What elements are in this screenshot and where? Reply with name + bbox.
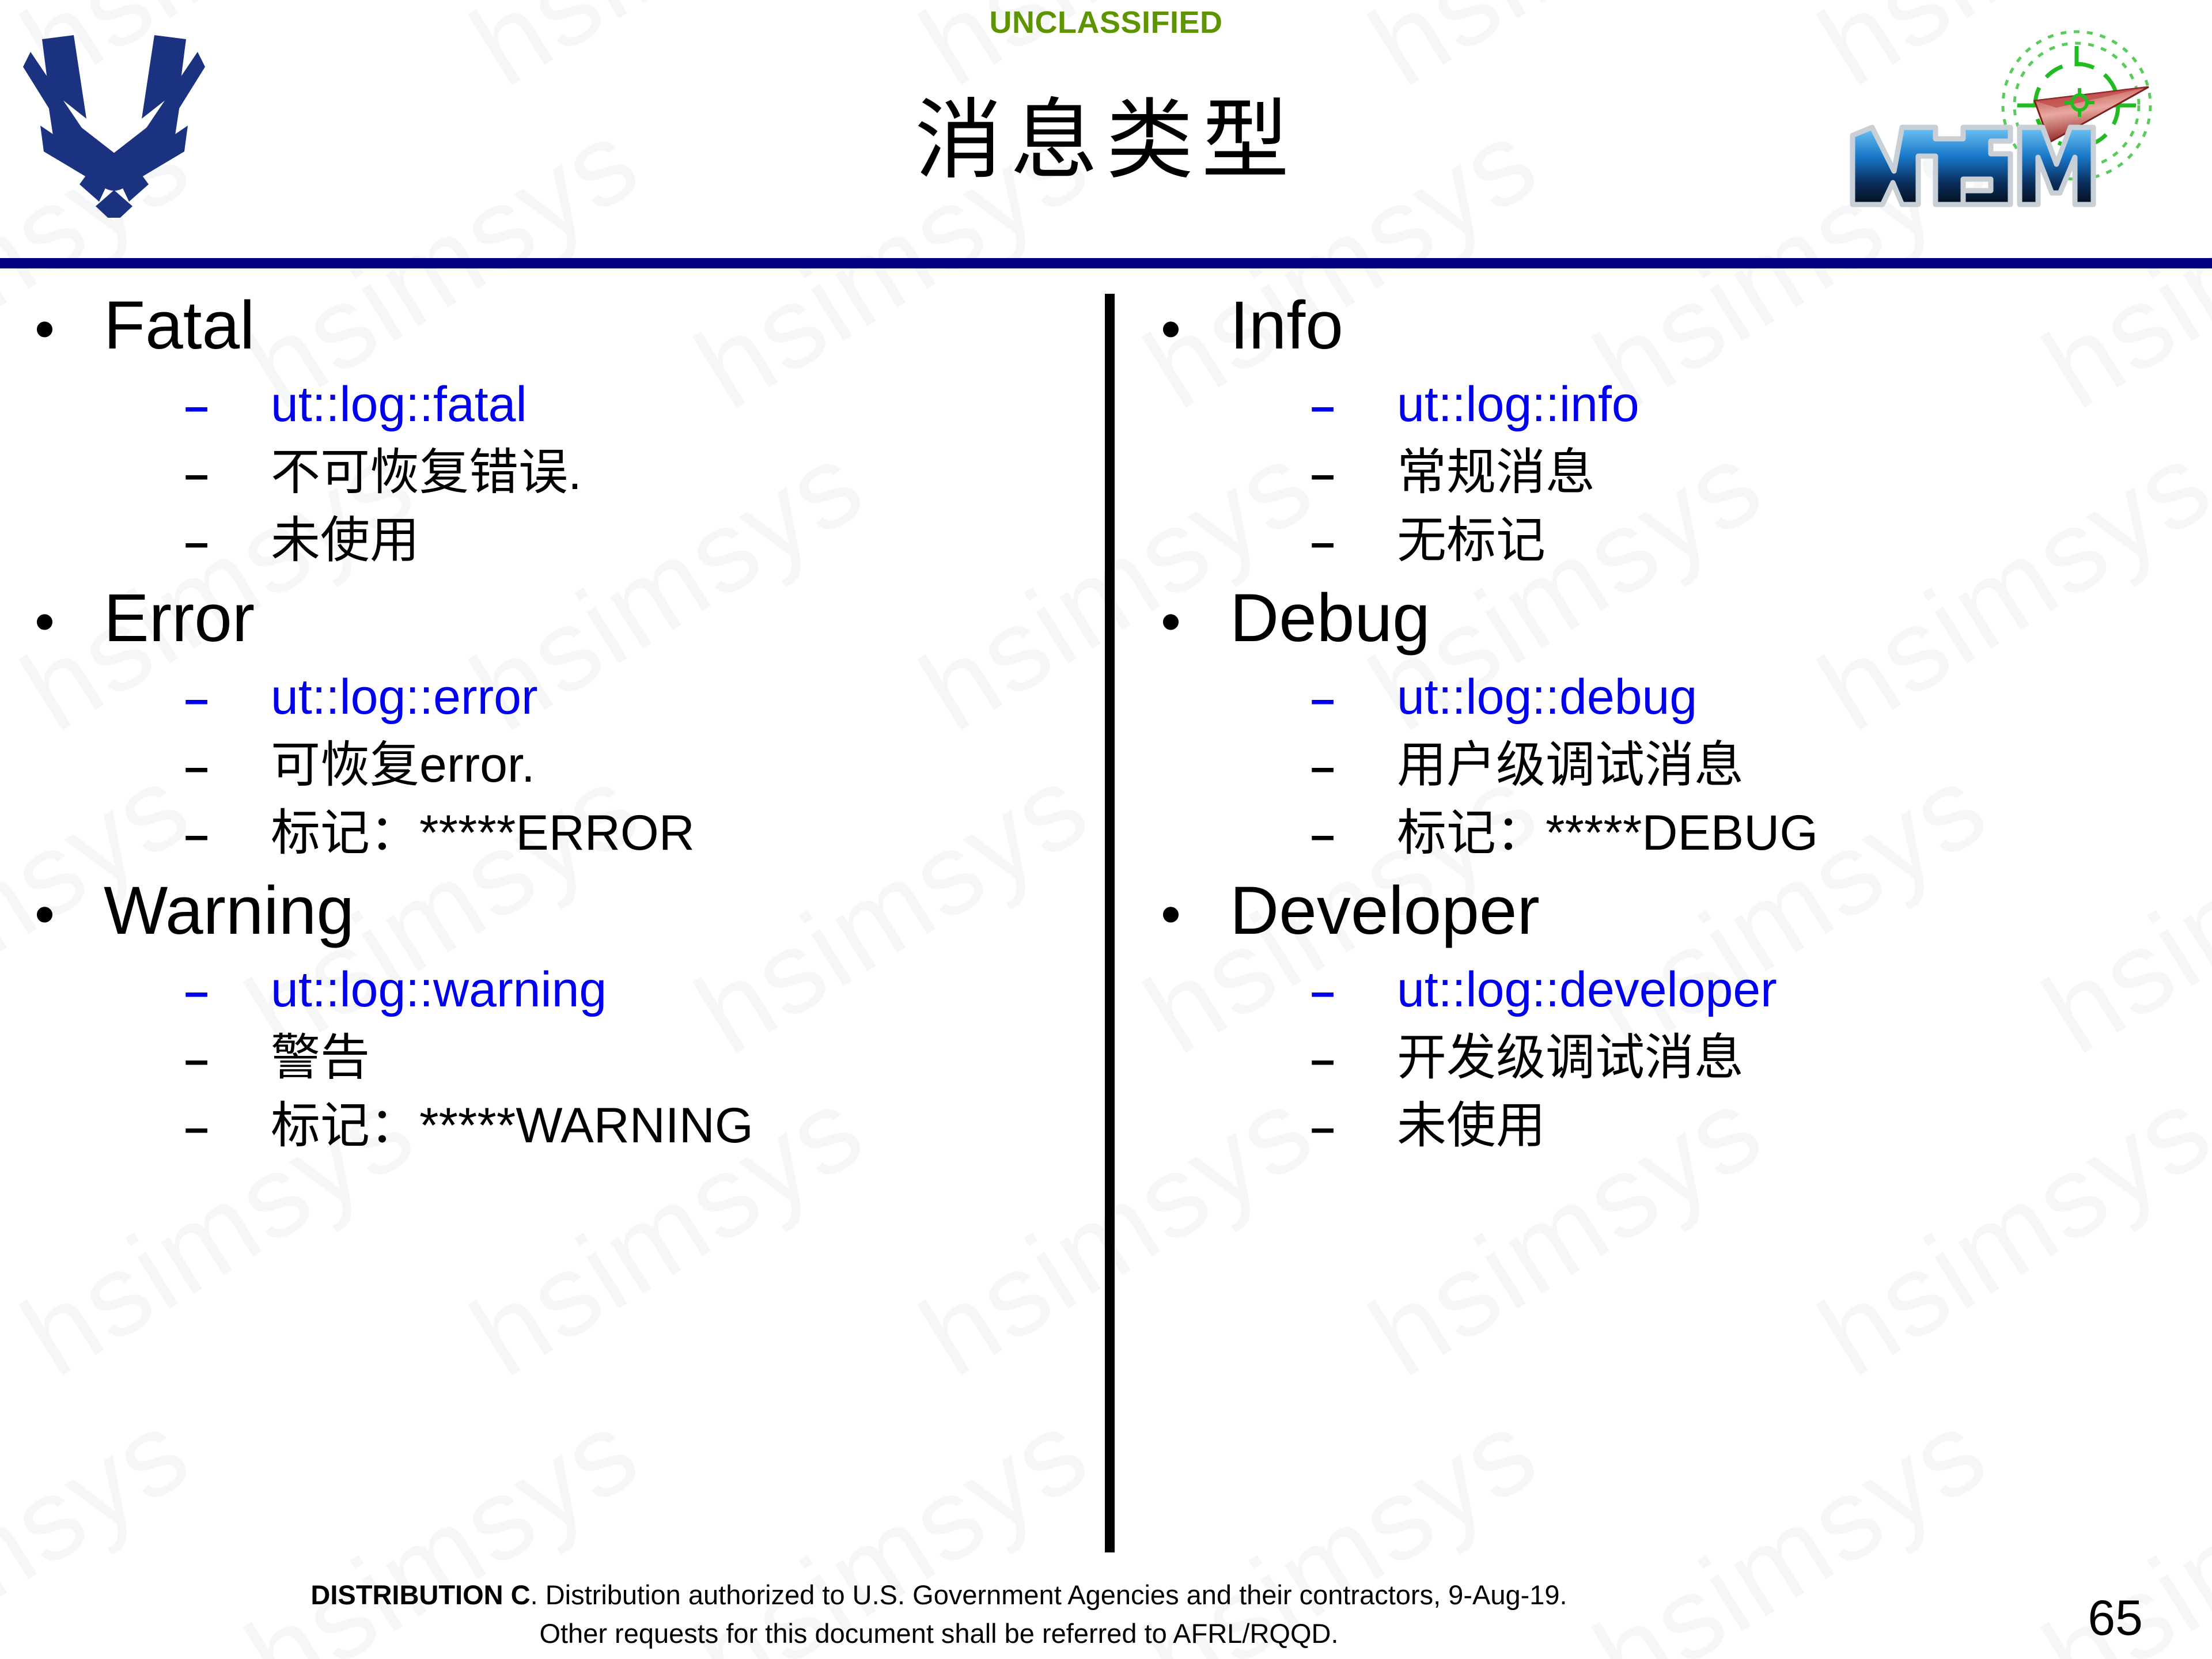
distribution-statement: DISTRIBUTION C. Distribution authorized … — [0, 1575, 1878, 1653]
sub-bullet-label: 标记：*****WARNING — [271, 1096, 753, 1156]
sub-bullet-label: 警告 — [271, 1028, 370, 1088]
topic-group: •Error–ut::log::error–可恢复error.–标记：*****… — [0, 581, 1094, 871]
sub-bullet-item: –标记：*****ERROR — [0, 803, 1094, 871]
sub-bullet-label: ut::log::error — [271, 667, 538, 727]
us-air-force-logo — [16, 33, 212, 218]
topic-heading: •Info — [1126, 288, 2212, 374]
sub-bullet-label: 未使用 — [271, 510, 419, 570]
header-divider-rule — [0, 258, 2212, 268]
topic-group: •Info–ut::log::info–常规消息–无标记 — [1126, 288, 2212, 578]
sub-bullet-item: –ut::log::developer — [1126, 960, 2212, 1028]
topic-group: •Fatal–ut::log::fatal–不可恢复错误.–未使用 — [0, 288, 1094, 578]
bullet-dash-icon: – — [1126, 737, 1397, 797]
topic-heading: •Developer — [1126, 873, 2212, 960]
bullet-dot-icon: • — [1126, 291, 1230, 366]
sub-bullet-label: 用户级调试消息 — [1397, 735, 1744, 795]
topic-label: Info — [1230, 288, 1343, 363]
bullet-dash-icon: – — [1126, 513, 1397, 573]
page-number: 65 — [2088, 1590, 2143, 1647]
distribution-text: . Distribution authorized to U.S. Govern… — [531, 1580, 1567, 1610]
sub-bullet-label: 无标记 — [1397, 510, 1546, 570]
topic-label: Warning — [104, 873, 354, 948]
sub-bullet-item: –标记：*****DEBUG — [1126, 803, 2212, 871]
distribution-line-2: Other requests for this document shall b… — [0, 1614, 1878, 1653]
sub-bullet-label: 开发级调试消息 — [1397, 1028, 1744, 1088]
topic-heading: •Error — [0, 581, 1094, 667]
sub-bullet-item: –用户级调试消息 — [1126, 735, 2212, 803]
sub-bullet-label: 标记：*****ERROR — [271, 803, 695, 863]
afsim-logo — [1849, 20, 2206, 216]
bullet-dot-icon: • — [0, 291, 104, 366]
topic-heading: •Warning — [0, 873, 1094, 960]
bullet-dash-icon: – — [0, 669, 271, 729]
bullet-dot-icon: • — [0, 584, 104, 659]
sub-bullet-item: –不可恢复错误. — [0, 442, 1094, 510]
bullet-dash-icon: – — [0, 377, 271, 437]
bullet-dash-icon: – — [0, 1098, 271, 1158]
distribution-line-1: DISTRIBUTION C. Distribution authorized … — [0, 1575, 1878, 1614]
sub-bullet-item: –可恢复error. — [0, 735, 1094, 803]
topic-group: •Warning–ut::log::warning–警告–标记：*****WAR… — [0, 873, 1094, 1164]
topic-label: Error — [104, 581, 255, 656]
bullet-dash-icon: – — [1126, 445, 1397, 505]
sub-bullet-label: ut::log::warning — [271, 960, 607, 1020]
bullet-dash-icon: – — [0, 1030, 271, 1090]
bullet-dot-icon: • — [1126, 584, 1230, 659]
sub-bullet-item: –未使用 — [1126, 1096, 2212, 1164]
topic-label: Debug — [1230, 581, 1430, 656]
sub-bullet-item: –ut::log::info — [1126, 374, 2212, 442]
bullet-dot-icon: • — [1126, 877, 1230, 952]
sub-bullet-item: –ut::log::debug — [1126, 667, 2212, 735]
sub-bullet-label: ut::log::debug — [1397, 667, 1697, 727]
bullet-dash-icon: – — [0, 513, 271, 573]
topic-label: Fatal — [104, 288, 255, 363]
bullet-dash-icon: – — [1126, 1030, 1397, 1090]
bullet-dash-icon: – — [1126, 805, 1397, 865]
sub-bullet-label: 标记：*****DEBUG — [1397, 803, 1818, 863]
sub-bullet-item: –ut::log::warning — [0, 960, 1094, 1028]
sub-bullet-item: –未使用 — [0, 510, 1094, 578]
sub-bullet-item: –无标记 — [1126, 510, 2212, 578]
sub-bullet-item: –警告 — [0, 1028, 1094, 1096]
sub-bullet-label: ut::log::fatal — [271, 374, 527, 434]
bullet-dash-icon: – — [1126, 669, 1397, 729]
bullet-dash-icon: – — [0, 737, 271, 797]
bullet-dash-icon: – — [0, 445, 271, 505]
topic-group: •Debug–ut::log::debug–用户级调试消息–标记：*****DE… — [1126, 581, 2212, 871]
right-column: •Info–ut::log::info–常规消息–无标记•Debug–ut::l… — [1126, 288, 2212, 1166]
sub-bullet-item: –常规消息 — [1126, 442, 2212, 510]
sub-bullet-item: –ut::log::error — [0, 667, 1094, 735]
sub-bullet-label: 未使用 — [1397, 1096, 1546, 1156]
slide-content: •Fatal–ut::log::fatal–不可恢复错误.–未使用•Error–… — [0, 288, 2212, 1544]
distribution-label: DISTRIBUTION C — [310, 1580, 530, 1610]
bullet-dash-icon: – — [0, 805, 271, 865]
sub-bullet-label: 可恢复error. — [271, 735, 535, 795]
topic-group: •Developer–ut::log::developer–开发级调试消息–未使… — [1126, 873, 2212, 1164]
bullet-dot-icon: • — [0, 877, 104, 952]
bullet-dash-icon: – — [0, 962, 271, 1022]
sub-bullet-item: –开发级调试消息 — [1126, 1028, 2212, 1096]
topic-label: Developer — [1230, 873, 1540, 948]
sub-bullet-label: 常规消息 — [1397, 442, 1595, 502]
topic-heading: •Fatal — [0, 288, 1094, 374]
sub-bullet-item: –ut::log::fatal — [0, 374, 1094, 442]
topic-heading: •Debug — [1126, 581, 2212, 667]
bullet-dash-icon: – — [1126, 962, 1397, 1022]
sub-bullet-label: ut::log::info — [1397, 374, 1639, 434]
sub-bullet-label: 不可恢复错误. — [271, 442, 582, 502]
sub-bullet-item: –标记：*****WARNING — [0, 1096, 1094, 1164]
bullet-dash-icon: – — [1126, 377, 1397, 437]
bullet-dash-icon: – — [1126, 1098, 1397, 1158]
sub-bullet-label: ut::log::developer — [1397, 960, 1777, 1020]
left-column: •Fatal–ut::log::fatal–不可恢复错误.–未使用•Error–… — [0, 288, 1094, 1166]
